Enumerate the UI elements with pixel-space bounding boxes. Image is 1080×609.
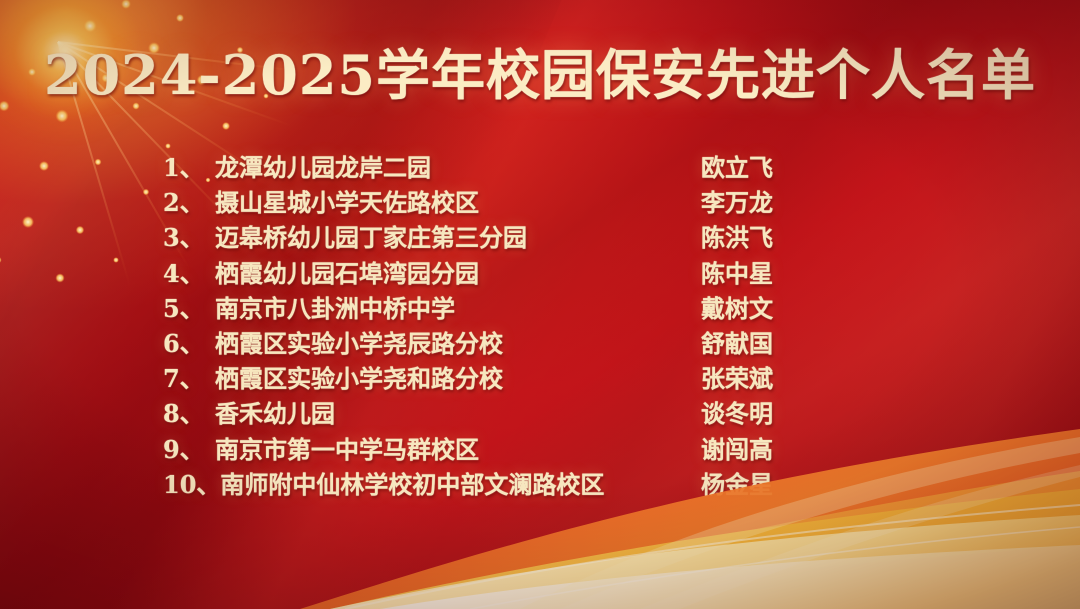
- list-item-organization: 南京市八卦洲中桥中学: [215, 289, 701, 324]
- list-item: 5、 南京市八卦洲中桥中学 戴树文: [163, 289, 823, 324]
- list-item-index: 8、: [163, 394, 215, 429]
- list-item-person: 欧立飞: [701, 148, 823, 183]
- list-item-index: 7、: [163, 359, 215, 394]
- list-item: 6、 栖霞区实验小学尧辰路分校 舒献国: [163, 324, 823, 359]
- list-item-index: 3、: [163, 218, 215, 253]
- award-list: 1、 龙潭幼儿园龙岸二园 欧立飞 2、 摄山星城小学天佐路校区 李万龙 3、 迈…: [163, 148, 823, 500]
- list-item: 7、 栖霞区实验小学尧和路分校 张荣斌: [163, 359, 823, 394]
- list-item-index: 9、: [163, 430, 215, 465]
- list-item-person: 陈洪飞: [701, 218, 823, 253]
- list-item: 8、 香禾幼儿园 谈冬明: [163, 394, 823, 429]
- list-item-person: 杨金星: [701, 465, 823, 500]
- list-item-index: 5、: [163, 289, 215, 324]
- list-item-organization: 栖霞区实验小学尧辰路分校: [215, 324, 701, 359]
- list-item-person: 舒献国: [701, 324, 823, 359]
- poster-canvas: 2024-2025学年校园保安先进个人名单 1、 龙潭幼儿园龙岸二园 欧立飞 2…: [0, 0, 1080, 609]
- list-item-organization: 栖霞幼儿园石埠湾园分园: [215, 254, 701, 289]
- list-item: 1、 龙潭幼儿园龙岸二园 欧立飞: [163, 148, 823, 183]
- list-item-person: 李万龙: [701, 183, 823, 218]
- list-item-index: 1、: [163, 148, 215, 183]
- list-item-organization: 香禾幼儿园: [215, 394, 701, 429]
- list-item-organization: 南京市第一中学马群校区: [215, 430, 701, 465]
- list-item: 3、 迈皋桥幼儿园丁家庄第三分园 陈洪飞: [163, 218, 823, 253]
- list-item-index: 6、: [163, 324, 215, 359]
- list-item: 9、 南京市第一中学马群校区 谢闯高: [163, 430, 823, 465]
- page-title: 2024-2025学年校园保安先进个人名单: [0, 48, 1080, 102]
- list-item-organization: 龙潭幼儿园龙岸二园: [215, 148, 701, 183]
- list-item-index: 10、: [163, 465, 220, 500]
- list-item-person: 陈中星: [701, 254, 823, 289]
- list-item-person: 张荣斌: [701, 359, 823, 394]
- list-item-index: 2、: [163, 183, 215, 218]
- list-item-organization: 摄山星城小学天佐路校区: [215, 183, 701, 218]
- list-item: 4、 栖霞幼儿园石埠湾园分园 陈中星: [163, 254, 823, 289]
- list-item: 2、 摄山星城小学天佐路校区 李万龙: [163, 183, 823, 218]
- list-item-person: 戴树文: [701, 289, 823, 324]
- list-item-person: 谈冬明: [701, 394, 823, 429]
- list-item-organization: 迈皋桥幼儿园丁家庄第三分园: [215, 218, 701, 253]
- list-item: 10、 南师附中仙林学校初中部文澜路校区 杨金星: [163, 465, 823, 500]
- list-item-person: 谢闯高: [701, 430, 823, 465]
- list-item-index: 4、: [163, 254, 215, 289]
- list-item-organization: 栖霞区实验小学尧和路分校: [215, 359, 701, 394]
- list-item-organization: 南师附中仙林学校初中部文澜路校区: [220, 465, 701, 500]
